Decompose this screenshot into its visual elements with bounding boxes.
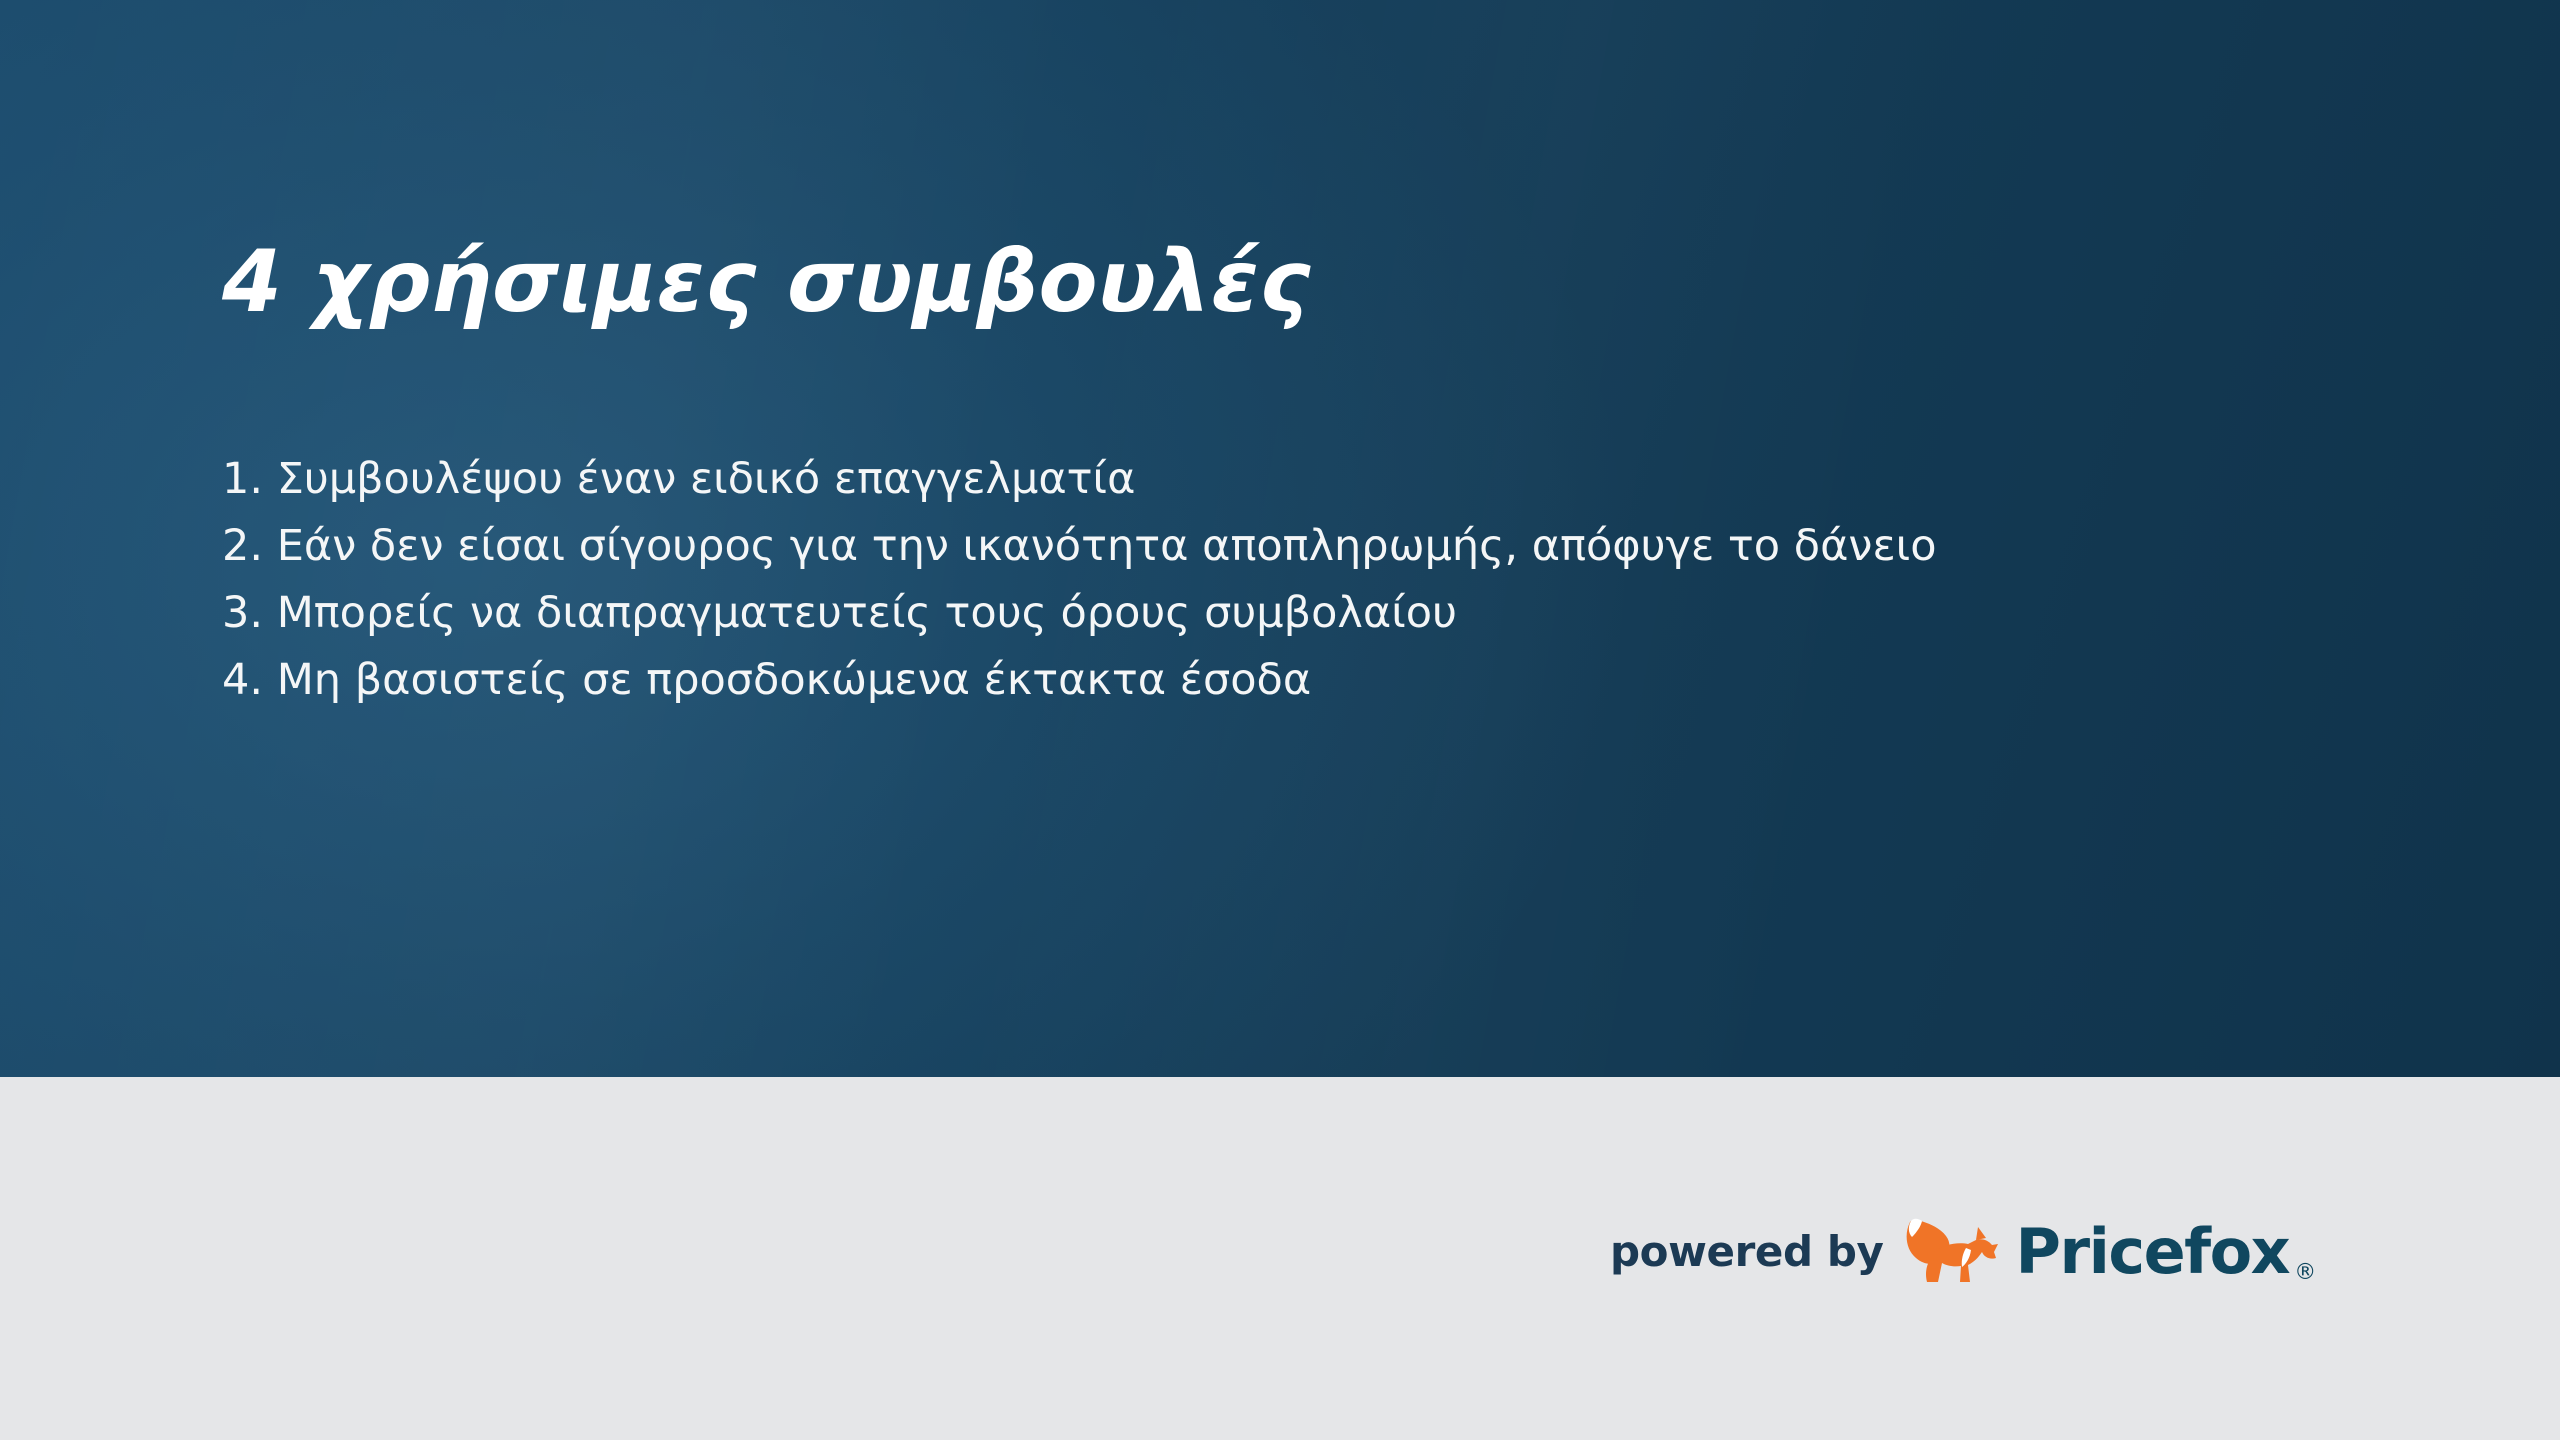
- slide-canvas: 4 χρήσιμες συμβουλές 1. Συμβουλέψου έναν…: [0, 0, 2560, 1440]
- slide-title: 4 χρήσιμες συμβουλές: [222, 236, 1311, 329]
- tips-list: 1. Συμβουλέψου έναν ειδικό επαγγελματία …: [222, 446, 1937, 714]
- list-item: 1. Συμβουλέψου έναν ειδικό επαγγελματία: [222, 446, 1937, 513]
- pricefox-logo-lockup: powered by Pricefox ®: [1610, 1196, 2316, 1308]
- powered-by-label: powered by: [1610, 1231, 1884, 1273]
- fox-logo-icon: [1900, 1200, 2004, 1304]
- list-item: 4. Μη βασιστείς σε προσδοκώμενα έκτακτα …: [222, 647, 1937, 714]
- brand-name: Pricefox: [2016, 1221, 2290, 1283]
- list-item: 3. Μπορείς να διαπραγματευτείς τους όρου…: [222, 580, 1937, 647]
- list-item: 2. Εάν δεν είσαι σίγουρος για την ικανότ…: [222, 513, 1937, 580]
- registered-trademark-icon: ®: [2289, 1262, 2316, 1308]
